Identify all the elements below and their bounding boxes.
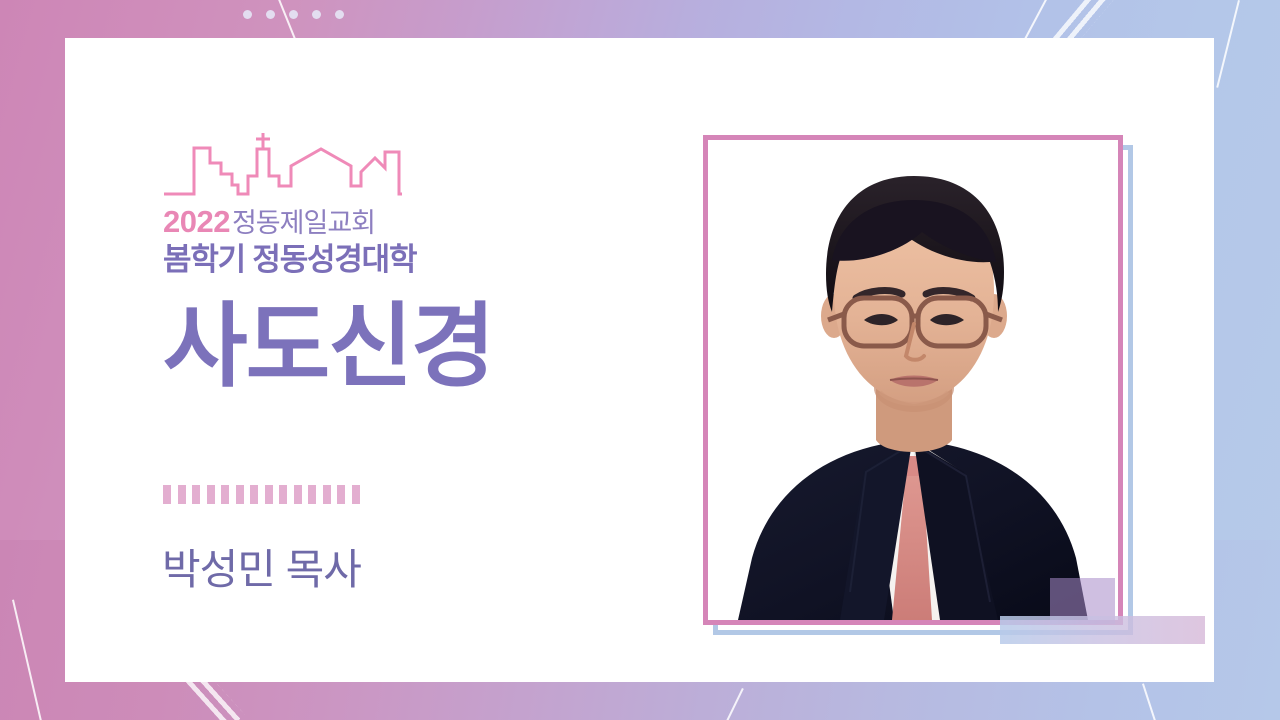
dashed-rule (163, 485, 360, 504)
rule-dash (337, 485, 345, 504)
rule-dash (323, 485, 331, 504)
rule-dash (192, 485, 200, 504)
church-name-label: 정동제일교회 (232, 208, 375, 238)
rule-dash (178, 485, 186, 504)
decor-rect-gradient (1000, 616, 1205, 644)
rule-dash (163, 485, 171, 504)
speaker-name: 박성민 목사 (162, 536, 361, 597)
rule-dash (250, 485, 258, 504)
rule-dash (294, 485, 302, 504)
rule-dash (308, 485, 316, 504)
dot (266, 10, 275, 19)
page-title: 사도신경 (163, 299, 494, 396)
rule-dash (236, 485, 244, 504)
poster-canvas: 2022정동제일교회 봄학기 정동성경대학 사도신경 박성민 목사 (0, 0, 1280, 720)
dot (289, 10, 298, 19)
program-label: 봄학기 정동성경대학 (163, 243, 494, 277)
dot (335, 10, 344, 19)
title-block: 2022정동제일교회 봄학기 정동성경대학 사도신경 (163, 130, 494, 396)
dot-row (243, 10, 344, 19)
rule-dash (279, 485, 287, 504)
content-card: 2022정동제일교회 봄학기 정동성경대학 사도신경 박성민 목사 (65, 38, 1214, 682)
year-label: 2022 (163, 204, 230, 239)
brand-line: 2022정동제일교회 (163, 206, 494, 237)
speaker-portrait (708, 140, 1118, 620)
dot (312, 10, 321, 19)
church-skyline-icon (163, 130, 403, 200)
rule-dash (352, 485, 360, 504)
dot (243, 10, 252, 19)
photo-frame-front (703, 135, 1123, 625)
rule-dash (221, 485, 229, 504)
rule-dash (265, 485, 273, 504)
rule-dash (207, 485, 215, 504)
